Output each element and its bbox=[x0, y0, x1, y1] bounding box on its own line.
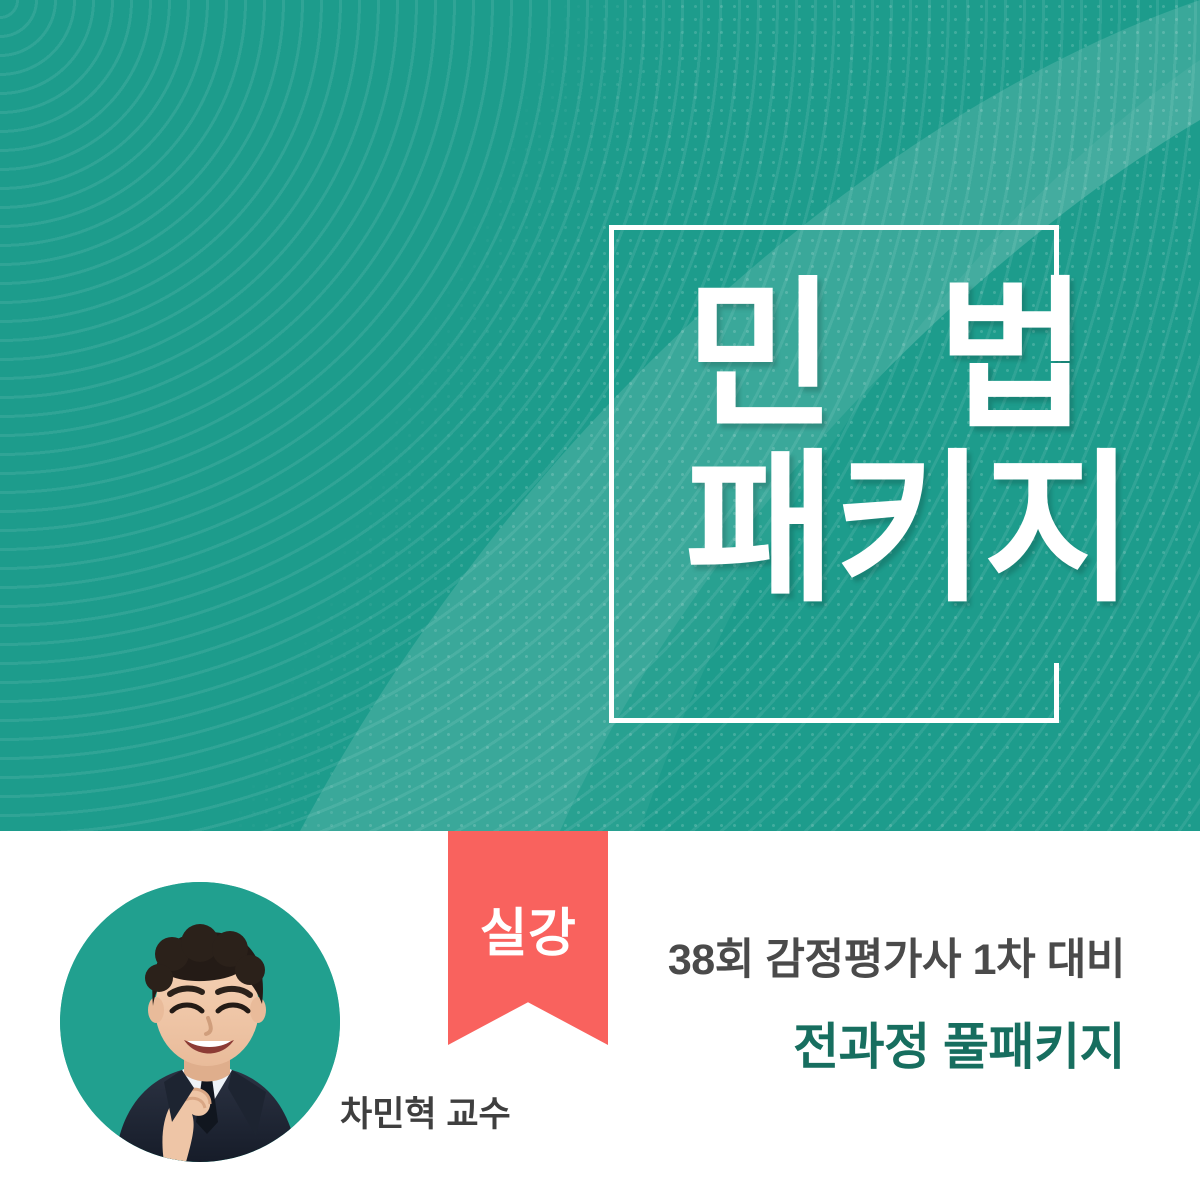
course-headline: 전과정 풀패키지 bbox=[668, 1007, 1125, 1079]
status-badge: 실강 bbox=[448, 831, 608, 1045]
promo-poster: 민 법 패키지 bbox=[0, 0, 1200, 1200]
hero-banner: 민 법 패키지 bbox=[0, 0, 1200, 831]
frame-edge-right-bottom bbox=[1054, 663, 1059, 723]
avatar bbox=[60, 882, 340, 1162]
instructor-photo bbox=[60, 882, 340, 1162]
status-badge-label: 실강 bbox=[448, 891, 608, 966]
hero-title-line-2: 패키지 bbox=[609, 455, 1119, 606]
hero-title: 민 법 패키지 bbox=[609, 282, 1119, 606]
frame-edge-top bbox=[609, 225, 1059, 230]
hero-title-line-1: 민 법 bbox=[609, 282, 1119, 433]
avatar-circle bbox=[60, 882, 340, 1162]
instructor-name: 차민혁 교수 bbox=[340, 1086, 511, 1137]
frame-edge-bottom bbox=[609, 718, 1059, 723]
course-subtitle: 38회 감정평가사 1차 대비 bbox=[668, 925, 1125, 987]
footer-bar: 차민혁 교수 실강 38회 감정평가사 1차 대비 전과정 풀패키지 bbox=[0, 831, 1200, 1200]
course-copy: 38회 감정평가사 1차 대비 전과정 풀패키지 bbox=[668, 925, 1125, 1079]
